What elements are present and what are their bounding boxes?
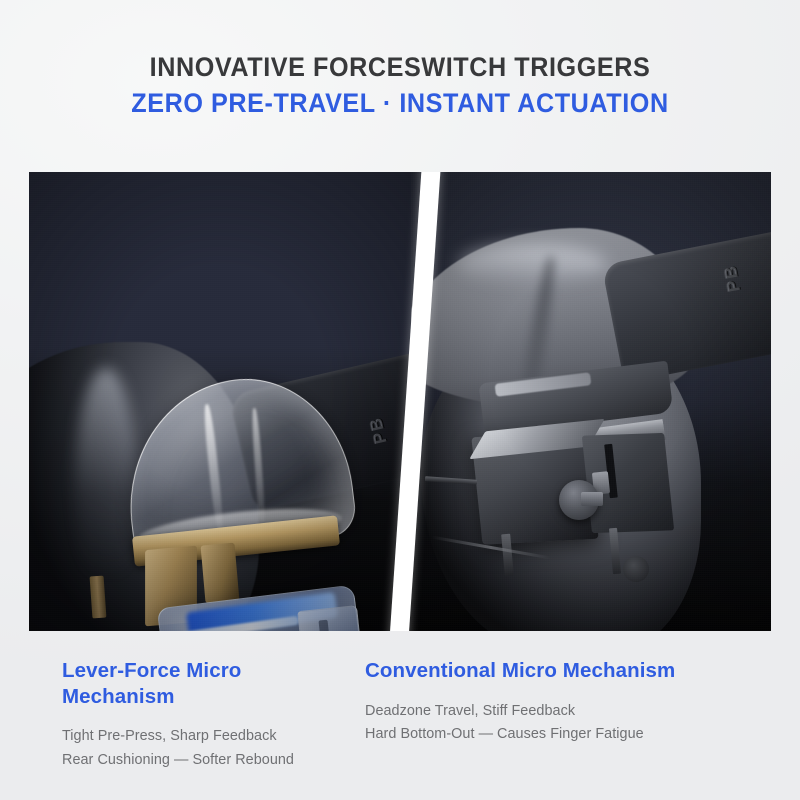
comparison-image-stage: PB — [29, 172, 771, 631]
headline-primary: INNOVATIVE FORCESWITCH TRIGGERS — [20, 52, 780, 82]
panel-conventional: PB — [411, 172, 771, 631]
caption-line: Deadzone Travel, Stiff Feedback — [365, 700, 800, 723]
headline-secondary: ZERO PRE-TRAVEL · INSTANT ACTUATION — [20, 88, 780, 118]
grip-highlight — [457, 244, 607, 284]
caption-line-list: Tight Pre-Press, Sharp Feedback Rear Cus… — [62, 725, 355, 772]
caption-line: Rear Cushioning — Softer Rebound — [62, 749, 355, 772]
captions-row: Lever-Force Micro Mechanism Tight Pre-Pr… — [0, 658, 800, 772]
caption-title: Lever-Force Micro Mechanism — [62, 658, 355, 709]
microswitch-dome-dot — [623, 556, 649, 582]
caption-conventional: Conventional Micro Mechanism Deadzone Tr… — [355, 658, 800, 772]
panel-lever-force: PB — [29, 172, 411, 631]
product-comparison-page: INNOVATIVE FORCESWITCH TRIGGERS ZERO PRE… — [0, 0, 800, 800]
caption-lever-force: Lever-Force Micro Mechanism Tight Pre-Pr… — [0, 658, 355, 772]
header: INNOVATIVE FORCESWITCH TRIGGERS ZERO PRE… — [0, 52, 800, 118]
caption-line-list: Deadzone Travel, Stiff Feedback Hard Bot… — [365, 700, 800, 747]
caption-line: Tight Pre-Press, Sharp Feedback — [62, 725, 355, 748]
brass-block — [201, 543, 240, 604]
caption-title: Conventional Micro Mechanism — [365, 658, 800, 684]
microswitch-pivot-nub — [581, 492, 603, 506]
caption-line: Hard Bottom-Out — Causes Finger Fatigue — [365, 723, 800, 746]
grip-highlight — [75, 368, 137, 598]
brass-pin — [90, 576, 107, 619]
